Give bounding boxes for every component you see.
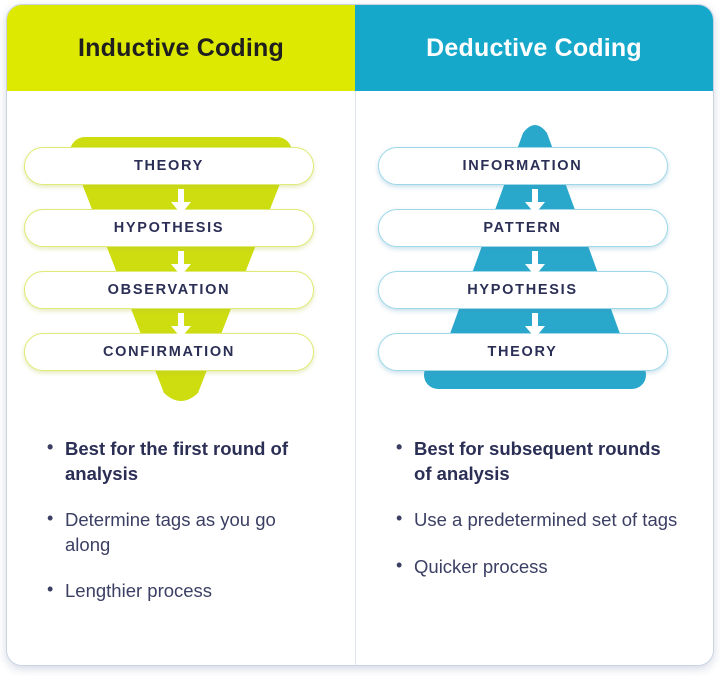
arrow-down-icon [169, 189, 193, 215]
list-item: Best for the first round of analysis [47, 437, 325, 486]
card-header: Inductive Coding Deductive Coding [7, 5, 713, 91]
diagram-deductive: INFORMATION PATTERN HYPOTHESIS [356, 91, 713, 421]
arrow-down-icon [523, 313, 547, 339]
stage-pill: INFORMATION [378, 147, 668, 185]
stage-label: CONFIRMATION [103, 344, 235, 360]
header-deductive: Deductive Coding [355, 5, 713, 91]
stage-pill: THEORY [24, 147, 314, 185]
stage-label: INFORMATION [463, 158, 583, 174]
infographic-stage: Inductive Coding Deductive Coding [0, 0, 720, 676]
diagram-inductive: THEORY HYPOTHESIS OBSERVATION [7, 91, 355, 421]
comparison-card: Inductive Coding Deductive Coding [6, 4, 714, 666]
page-title-inductive: Inductive Coding [78, 34, 284, 63]
list-item: Lengthier process [47, 579, 325, 604]
arrow-down-icon [523, 251, 547, 277]
column-deductive: INFORMATION PATTERN HYPOTHESIS [355, 91, 713, 666]
stage-label: PATTERN [483, 220, 561, 236]
arrow-down-icon [523, 189, 547, 215]
arrow-down-icon [169, 313, 193, 339]
list-item: Determine tags as you go along [47, 508, 325, 557]
card-body: THEORY HYPOTHESIS OBSERVATION [7, 91, 713, 666]
stage-label: THEORY [134, 158, 204, 174]
list-item: Use a predetermined set of tags [396, 508, 683, 533]
list-item: Best for subsequent rounds of analysis [396, 437, 683, 486]
stage-label: HYPOTHESIS [467, 282, 577, 298]
stage-label: HYPOTHESIS [114, 220, 224, 236]
stage-label: OBSERVATION [108, 282, 231, 298]
page-title-deductive: Deductive Coding [426, 34, 642, 63]
bullet-list-inductive: Best for the first round of analysis Det… [7, 421, 355, 604]
bullet-list-deductive: Best for subsequent rounds of analysis U… [356, 421, 713, 579]
stage-label: THEORY [487, 344, 557, 360]
column-inductive: THEORY HYPOTHESIS OBSERVATION [7, 91, 355, 666]
arrow-down-icon [169, 251, 193, 277]
header-inductive: Inductive Coding [7, 5, 355, 91]
list-item: Quicker process [396, 555, 683, 580]
